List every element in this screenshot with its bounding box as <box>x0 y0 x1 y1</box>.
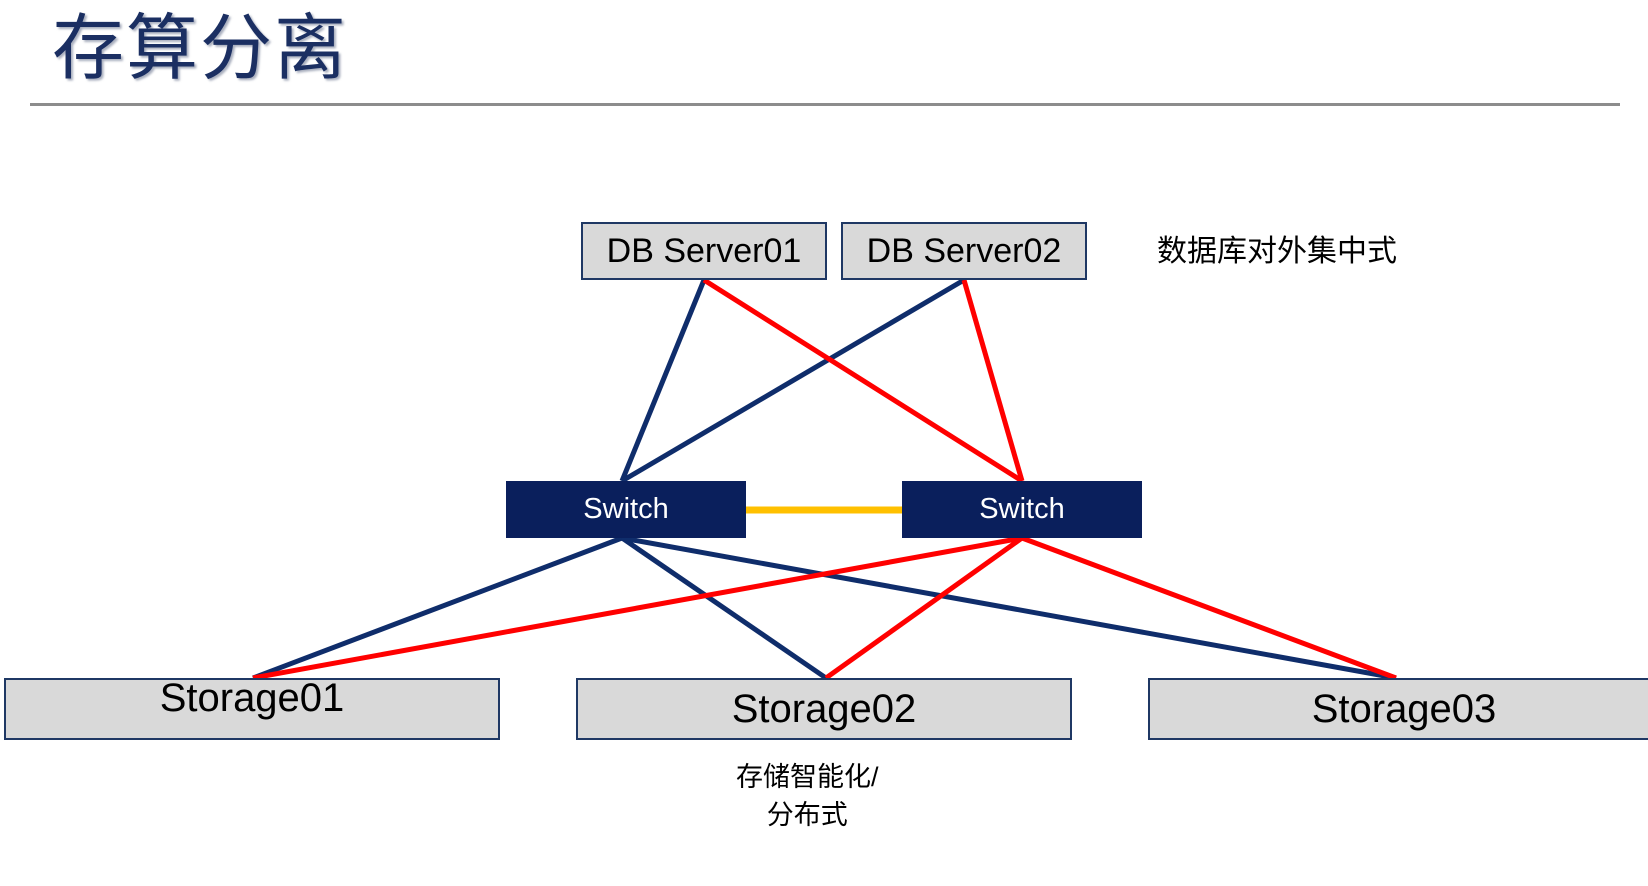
node-db-server01-label: DB Server01 <box>607 232 802 271</box>
node-db-server01[interactable]: DB Server01 <box>581 222 827 280</box>
slide-canvas: 存算分离 DB Server01 DB Server02 数据库对外集中式 Sw… <box>0 0 1648 886</box>
node-switch-right-label: Switch <box>979 493 1064 526</box>
node-storage01-label: Storage01 <box>160 676 345 721</box>
database-tier-note: 数据库对外集中式 <box>1157 226 1397 270</box>
node-db-server02[interactable]: DB Server02 <box>841 222 1087 280</box>
node-switch-left[interactable]: Switch <box>506 481 746 538</box>
link-switch-left-storage03 <box>622 538 1396 678</box>
node-switch-right[interactable]: Switch <box>902 481 1142 538</box>
storage-tier-note-line2: 分布式 <box>736 796 879 834</box>
node-storage03-label: Storage03 <box>1312 687 1497 732</box>
node-storage02-label: Storage02 <box>732 687 917 732</box>
link-switch-right-storage02 <box>826 538 1022 678</box>
node-storage03[interactable]: Storage03 <box>1148 678 1648 740</box>
link-switch-right-storage01 <box>253 538 1022 678</box>
node-db-server02-label: DB Server02 <box>867 232 1062 271</box>
node-storage02[interactable]: Storage02 <box>576 678 1072 740</box>
storage-tier-note-line1: 存储智能化/ <box>736 758 879 796</box>
node-switch-left-label: Switch <box>583 493 668 526</box>
storage-tier-note: 存储智能化/ 分布式 <box>736 758 879 834</box>
connection-lines-layer <box>0 0 1648 886</box>
link-db2-switch-left <box>622 280 964 481</box>
link-switch-left-storage01 <box>253 538 622 678</box>
link-switch-right-storage03 <box>1022 538 1396 678</box>
link-switch-left-storage02 <box>622 538 826 678</box>
node-storage01[interactable]: Storage01 <box>4 678 500 740</box>
link-db1-switch-left <box>622 280 704 481</box>
